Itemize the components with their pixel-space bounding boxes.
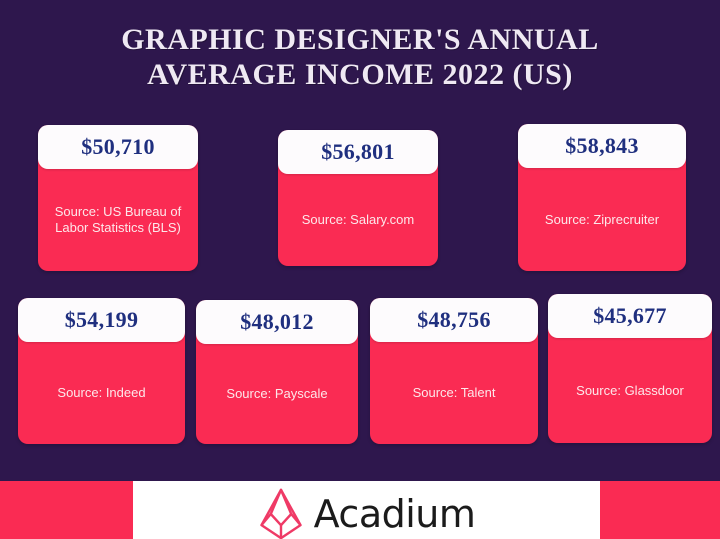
page-title: GRAPHIC DESIGNER'S ANNUAL AVERAGE INCOME… (0, 22, 720, 92)
income-source: Source: Ziprecruiter (518, 168, 686, 271)
income-value: $48,012 (196, 300, 358, 344)
income-card: $48,756 Source: Talent (370, 298, 538, 444)
income-source: Source: Talent (370, 342, 538, 444)
income-card: $48,012 Source: Payscale (196, 300, 358, 444)
title-line-1: GRAPHIC DESIGNER'S ANNUAL (0, 22, 720, 57)
income-value: $54,199 (18, 298, 185, 342)
brand-logo: Acadium (258, 488, 476, 539)
income-value: $48,756 (370, 298, 538, 342)
income-card: $58,843 Source: Ziprecruiter (518, 124, 686, 271)
income-source: Source: Salary.com (278, 174, 438, 266)
title-line-2: AVERAGE INCOME 2022 (US) (0, 57, 720, 92)
income-card: $50,710 Source: US Bureau of Labor Stati… (38, 125, 198, 271)
income-source: Source: Indeed (18, 342, 185, 444)
footer-band: Acadium (0, 481, 720, 539)
brand-panel: Acadium (133, 481, 600, 539)
income-card: $54,199 Source: Indeed (18, 298, 185, 444)
income-value: $58,843 (518, 124, 686, 168)
income-value: $45,677 (548, 294, 712, 338)
income-value: $50,710 (38, 125, 198, 169)
income-source: Source: US Bureau of Labor Statistics (B… (38, 169, 198, 271)
income-source: Source: Payscale (196, 344, 358, 444)
infographic-canvas: GRAPHIC DESIGNER'S ANNUAL AVERAGE INCOME… (0, 0, 720, 539)
acadium-diamond-icon (258, 488, 304, 539)
income-source: Source: Glassdoor (548, 338, 712, 443)
income-card: $45,677 Source: Glassdoor (548, 294, 712, 443)
income-card: $56,801 Source: Salary.com (278, 130, 438, 266)
income-value: $56,801 (278, 130, 438, 174)
brand-name: Acadium (314, 495, 476, 533)
